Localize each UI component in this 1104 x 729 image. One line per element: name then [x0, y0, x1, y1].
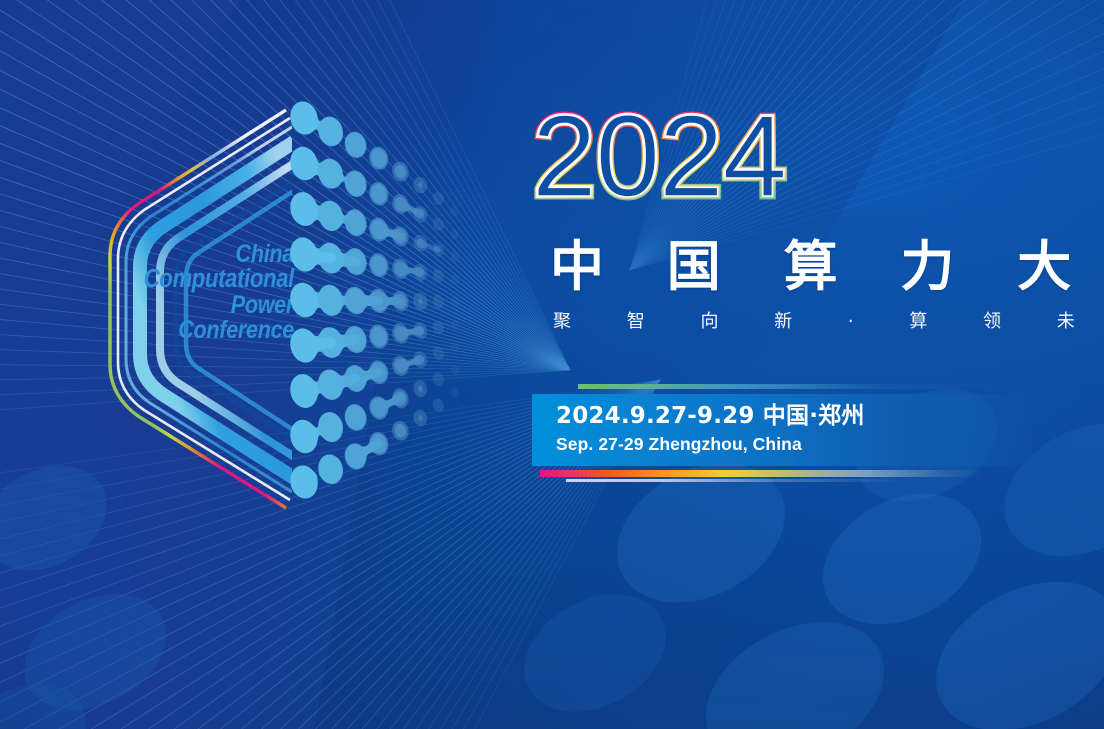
matrix-connector [304, 343, 331, 346]
matrix-dot [342, 207, 370, 239]
matrix-dot [450, 228, 460, 240]
conference-poster: China Computational Power Conference [0, 0, 1104, 729]
matrix-dot [315, 198, 346, 234]
date-location-block: 2024.9.27-9.29 中国·郑州 Sep. 27-29 Zhengzho… [532, 384, 1104, 492]
matrix-dot [432, 371, 446, 387]
matrix-dot [287, 189, 321, 229]
matrix-dot [412, 408, 429, 427]
logo-wordmark-line-1: China [141, 242, 294, 267]
accent-bar-bottom [540, 470, 982, 477]
matrix-dot [431, 268, 445, 284]
matrix-dot [287, 280, 322, 320]
matrix-dot [412, 379, 429, 399]
matrix-connector [400, 331, 420, 334]
logo-wordmark-line-3: Power [141, 293, 294, 318]
matrix-dot [412, 291, 429, 311]
matrix-dot [450, 319, 460, 331]
matrix-dot [315, 282, 346, 319]
matrix-dot [342, 168, 369, 199]
matrix-dot [450, 386, 460, 398]
matrix-dot [432, 345, 446, 361]
matrix-dot [342, 129, 369, 160]
matrix-dot [450, 273, 460, 285]
date-line-cn: 2024.9.27-9.29 中国·郑州 [556, 396, 865, 430]
matrix-dot [412, 175, 429, 194]
matrix-dot [431, 320, 445, 336]
logo-wordmark: China Computational Power Conference [141, 242, 294, 343]
matrix-dot [287, 417, 321, 456]
matrix-dot [450, 251, 460, 263]
accent-bar-top [578, 384, 1008, 389]
matrix-dot [432, 397, 446, 413]
page-title: 中 国 算 力 大 会 [528, 238, 1048, 295]
matrix-dot [367, 180, 391, 207]
year-2024: 2024 2024 2024 2024 [532, 108, 1048, 216]
matrix-dot [315, 452, 346, 487]
matrix-dot [432, 191, 446, 207]
matrix-dot [315, 156, 346, 191]
matrix-dot [367, 322, 391, 350]
matrix-dot [367, 145, 391, 172]
logo-wordmark-line-4: Conference [141, 318, 294, 343]
logo-wordmark-line-2: Computational [141, 267, 294, 293]
date-line-en: Sep. 27-29 Zhengzhou, China [556, 434, 865, 455]
matrix-dot [450, 341, 460, 353]
matrix-dot [431, 294, 445, 310]
matrix-connector [331, 378, 356, 384]
matrix-connector [400, 269, 420, 273]
year-highlight: 2024 [532, 91, 786, 221]
matrix-dot [342, 402, 369, 433]
matrix-dot [315, 409, 346, 444]
date-banner-text: 2024.9.27-9.29 中国·郑州 Sep. 27-29 Zhengzho… [556, 396, 865, 455]
matrix-dot [287, 371, 321, 411]
matrix-dot [287, 144, 321, 183]
matrix-dot [367, 251, 391, 279]
page-subtitle: 聚 智 向 新 · 算 领 未 来 [528, 307, 1048, 333]
perspective-dot-grid [292, 104, 522, 504]
matrix-dot [432, 216, 446, 232]
poster-content: 2024 2024 2024 2024 中 国 算 力 大 会 聚 智 向 新 … [528, 108, 1048, 333]
matrix-dot [450, 206, 460, 218]
matrix-connector [304, 255, 331, 259]
matrix-dot [287, 463, 321, 502]
accent-bar-bottom-thin [566, 479, 904, 482]
matrix-dot [287, 99, 321, 138]
matrix-dot [390, 419, 411, 442]
matrix-dot [450, 364, 460, 376]
matrix-dot [315, 114, 346, 149]
matrix-dot [390, 160, 411, 183]
matrix-dot [450, 296, 460, 308]
